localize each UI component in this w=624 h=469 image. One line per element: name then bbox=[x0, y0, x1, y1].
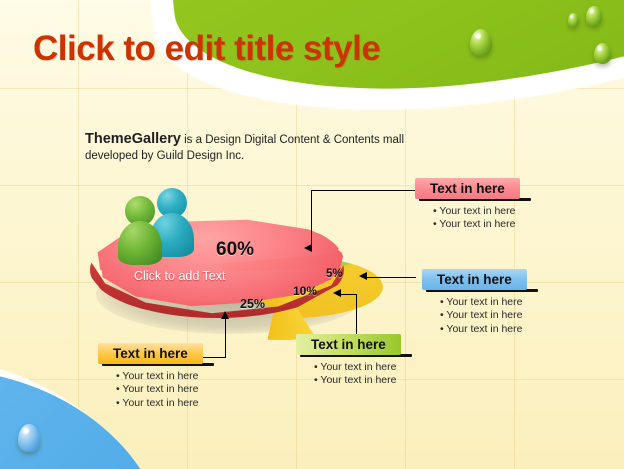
connector-arrow-10 bbox=[333, 289, 341, 297]
pie-label-25: 25% bbox=[240, 297, 265, 311]
list-item: Your text in here bbox=[116, 397, 214, 411]
pie-chart[interactable]: 60% 25% 10% 5% Click to add Text bbox=[88, 196, 388, 341]
list-item: Your text in here bbox=[433, 205, 531, 219]
avatar-body bbox=[118, 221, 162, 265]
list-item: Your text in here bbox=[314, 361, 412, 375]
pie-placeholder-text[interactable]: Click to add Text bbox=[134, 269, 225, 283]
callout-green[interactable]: Text in here Your text in here Your text… bbox=[296, 334, 412, 388]
list-item: Your text in here bbox=[433, 218, 531, 232]
pie-label-60: 60% bbox=[216, 239, 254, 261]
page-title: Click to edit title style bbox=[33, 29, 380, 69]
pie-label-10: 10% bbox=[293, 284, 317, 298]
list-item: Your text in here bbox=[116, 370, 214, 384]
subtitle-brand: ThemeGallery bbox=[85, 131, 181, 147]
connector-arrow-5 bbox=[359, 272, 367, 280]
water-droplet-icon bbox=[568, 13, 579, 27]
callout-pink[interactable]: Text in here Your text in here Your text… bbox=[415, 178, 531, 232]
callout-bullet-list: Your text in here Your text in here bbox=[433, 205, 531, 232]
callout-caption[interactable]: Text in here bbox=[422, 269, 527, 290]
pie-label-5: 5% bbox=[326, 268, 343, 280]
callout-bullet-list: Your text in here Your text in here Your… bbox=[440, 296, 538, 337]
list-item: Your text in here bbox=[314, 374, 412, 388]
list-item: Your text in here bbox=[440, 323, 538, 337]
connector-line-5 bbox=[366, 277, 416, 278]
connector-line-60 bbox=[311, 190, 312, 249]
list-item: Your text in here bbox=[440, 296, 538, 310]
callout-orange[interactable]: Text in here Your text in here Your text… bbox=[98, 343, 214, 410]
callout-caption[interactable]: Text in here bbox=[415, 178, 520, 199]
connector-line-10 bbox=[340, 294, 357, 295]
connector-line-25 bbox=[225, 318, 226, 358]
subtitle-text: ThemeGallery is a Design Digital Content… bbox=[85, 131, 415, 164]
connector-arrow-60 bbox=[304, 244, 312, 252]
water-droplet-icon bbox=[586, 6, 602, 26]
connector-arrow-25 bbox=[221, 311, 229, 319]
water-droplet-icon bbox=[18, 424, 40, 452]
grid-line-vertical bbox=[78, 0, 79, 469]
callout-bullet-list: Your text in here Your text in here bbox=[314, 361, 412, 388]
connector-line-60 bbox=[311, 190, 415, 191]
water-droplet-icon bbox=[470, 29, 492, 56]
callout-caption[interactable]: Text in here bbox=[98, 343, 203, 364]
list-item: Your text in here bbox=[440, 309, 538, 323]
callout-bullet-list: Your text in here Your text in here Your… bbox=[116, 370, 214, 411]
callout-blue[interactable]: Text in here Your text in here Your text… bbox=[422, 269, 538, 336]
water-droplet-icon bbox=[594, 43, 611, 64]
callout-caption[interactable]: Text in here bbox=[296, 334, 401, 355]
slide-canvas: Click to edit title style ThemeGallery i… bbox=[0, 0, 624, 469]
connector-line-10 bbox=[356, 294, 357, 338]
avatar bbox=[114, 196, 166, 268]
list-item: Your text in here bbox=[116, 383, 214, 397]
